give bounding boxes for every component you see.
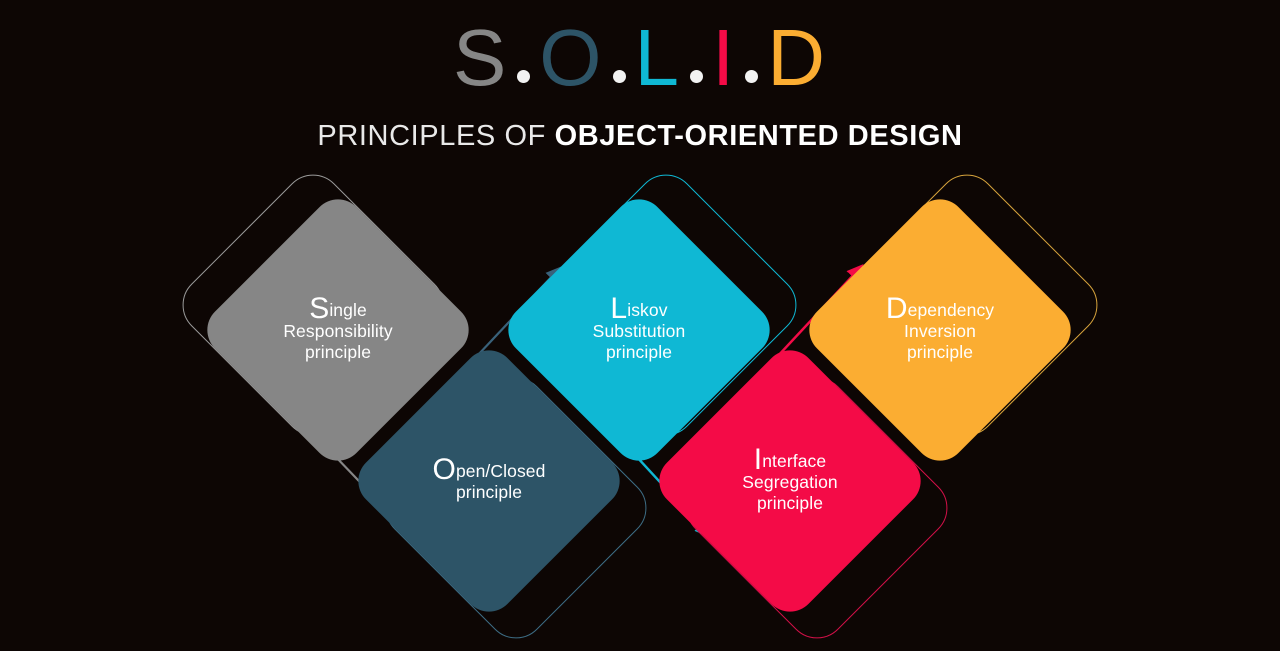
- node-dependency-inversion[interactable]: Dependency Inversion principle: [840, 230, 1040, 430]
- node-fill-diamond: [799, 189, 1082, 472]
- poster-canvas: SOLID PRINCIPLES OF OBJECT-ORIENTED DESI…: [0, 0, 1280, 640]
